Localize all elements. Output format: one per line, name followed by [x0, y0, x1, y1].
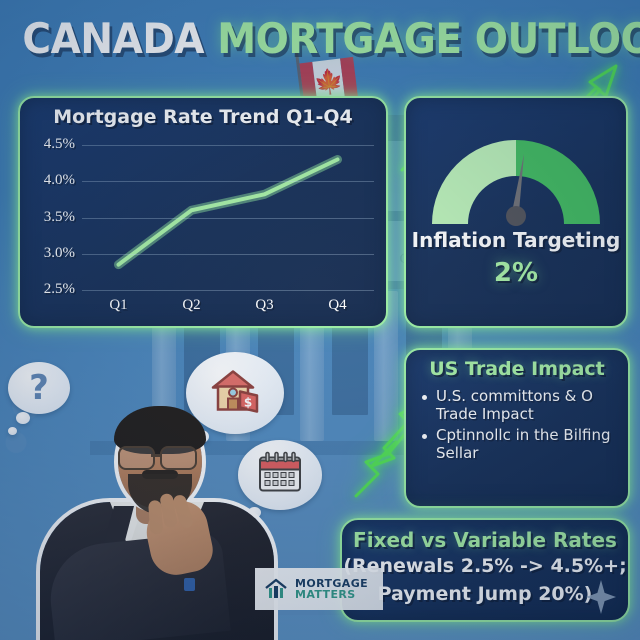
- trade-bullet-item: U.S. committons & O Trade Impact: [420, 388, 618, 423]
- chart-gridline: [82, 254, 374, 255]
- chart-gridline: [82, 145, 374, 146]
- title-part-mortgage-outlook: MORTGAGE OUTLOOK: [217, 14, 640, 63]
- fixed-vs-variable-rates-panel: Fixed vs Variable Rates (Renewals 2.5% -…: [340, 518, 630, 622]
- chart-gridline: [82, 181, 374, 182]
- chart-y-tick-label: 4.5%: [44, 136, 75, 153]
- chart-gridline: [82, 290, 374, 291]
- rates-detail-line-2: Payment Jump 20%): [342, 583, 628, 605]
- chart-gridline: [82, 218, 374, 219]
- rates-detail-line-1: (Renewals 2.5% -> 4.5%+;: [342, 555, 628, 577]
- inflation-gauge-panel: Inflation Targeting 2%: [404, 96, 628, 328]
- chart-x-tick-label: Q1: [109, 297, 127, 314]
- chart-y-tick-label: 2.5%: [44, 281, 75, 298]
- trade-panel-title: US Trade Impact: [406, 358, 628, 380]
- infographic-canvas: BANK OF CANADA 🍁 CANADA MORTGAGE OUTLOOK: [0, 0, 640, 640]
- glasses-icon: [116, 446, 206, 466]
- gauge-label: Inflation Targeting: [406, 228, 626, 252]
- chart-x-tick-label: Q2: [182, 297, 200, 314]
- mortgage-matters-logo: MORTGAGE MATTERS: [255, 568, 383, 610]
- mortgage-rate-chart-panel: Mortgage Rate Trend Q1-Q4 4.5%4.0%3.5%3.…: [18, 96, 388, 328]
- house-m-logo-icon: [263, 576, 289, 602]
- page-title: CANADA MORTGAGE OUTLOOK: [22, 14, 617, 63]
- rates-heading: Fixed vs Variable Rates: [342, 528, 628, 552]
- gauge-value: 2%: [406, 258, 626, 288]
- chart-y-tick-label: 4.0%: [44, 172, 75, 189]
- thinking-businessman: [32, 390, 282, 640]
- chart-plot-area: 4.5%4.0%3.5%3.0%2.5%Q1Q2Q3Q4: [82, 145, 374, 290]
- us-trade-impact-panel: US Trade Impact U.S. committons & O Trad…: [404, 348, 630, 508]
- gauge-meter-icon: [406, 124, 626, 220]
- trade-bullet-item: Cptinnollc in the Bilfing Sellar: [420, 427, 618, 462]
- trade-bullet-list: U.S. committons & O Trade ImpactCptinnol…: [420, 388, 618, 467]
- chart-y-tick-label: 3.0%: [44, 245, 75, 262]
- lapel-pin: [184, 578, 195, 591]
- title-part-canada: CANADA: [22, 14, 204, 63]
- chart-x-tick-label: Q3: [255, 297, 273, 314]
- chart-y-tick-label: 3.5%: [44, 209, 75, 226]
- chart-x-tick-label: Q4: [328, 297, 346, 314]
- logo-line-2: MATTERS: [295, 589, 368, 600]
- chart-title: Mortgage Rate Trend Q1-Q4: [20, 106, 386, 128]
